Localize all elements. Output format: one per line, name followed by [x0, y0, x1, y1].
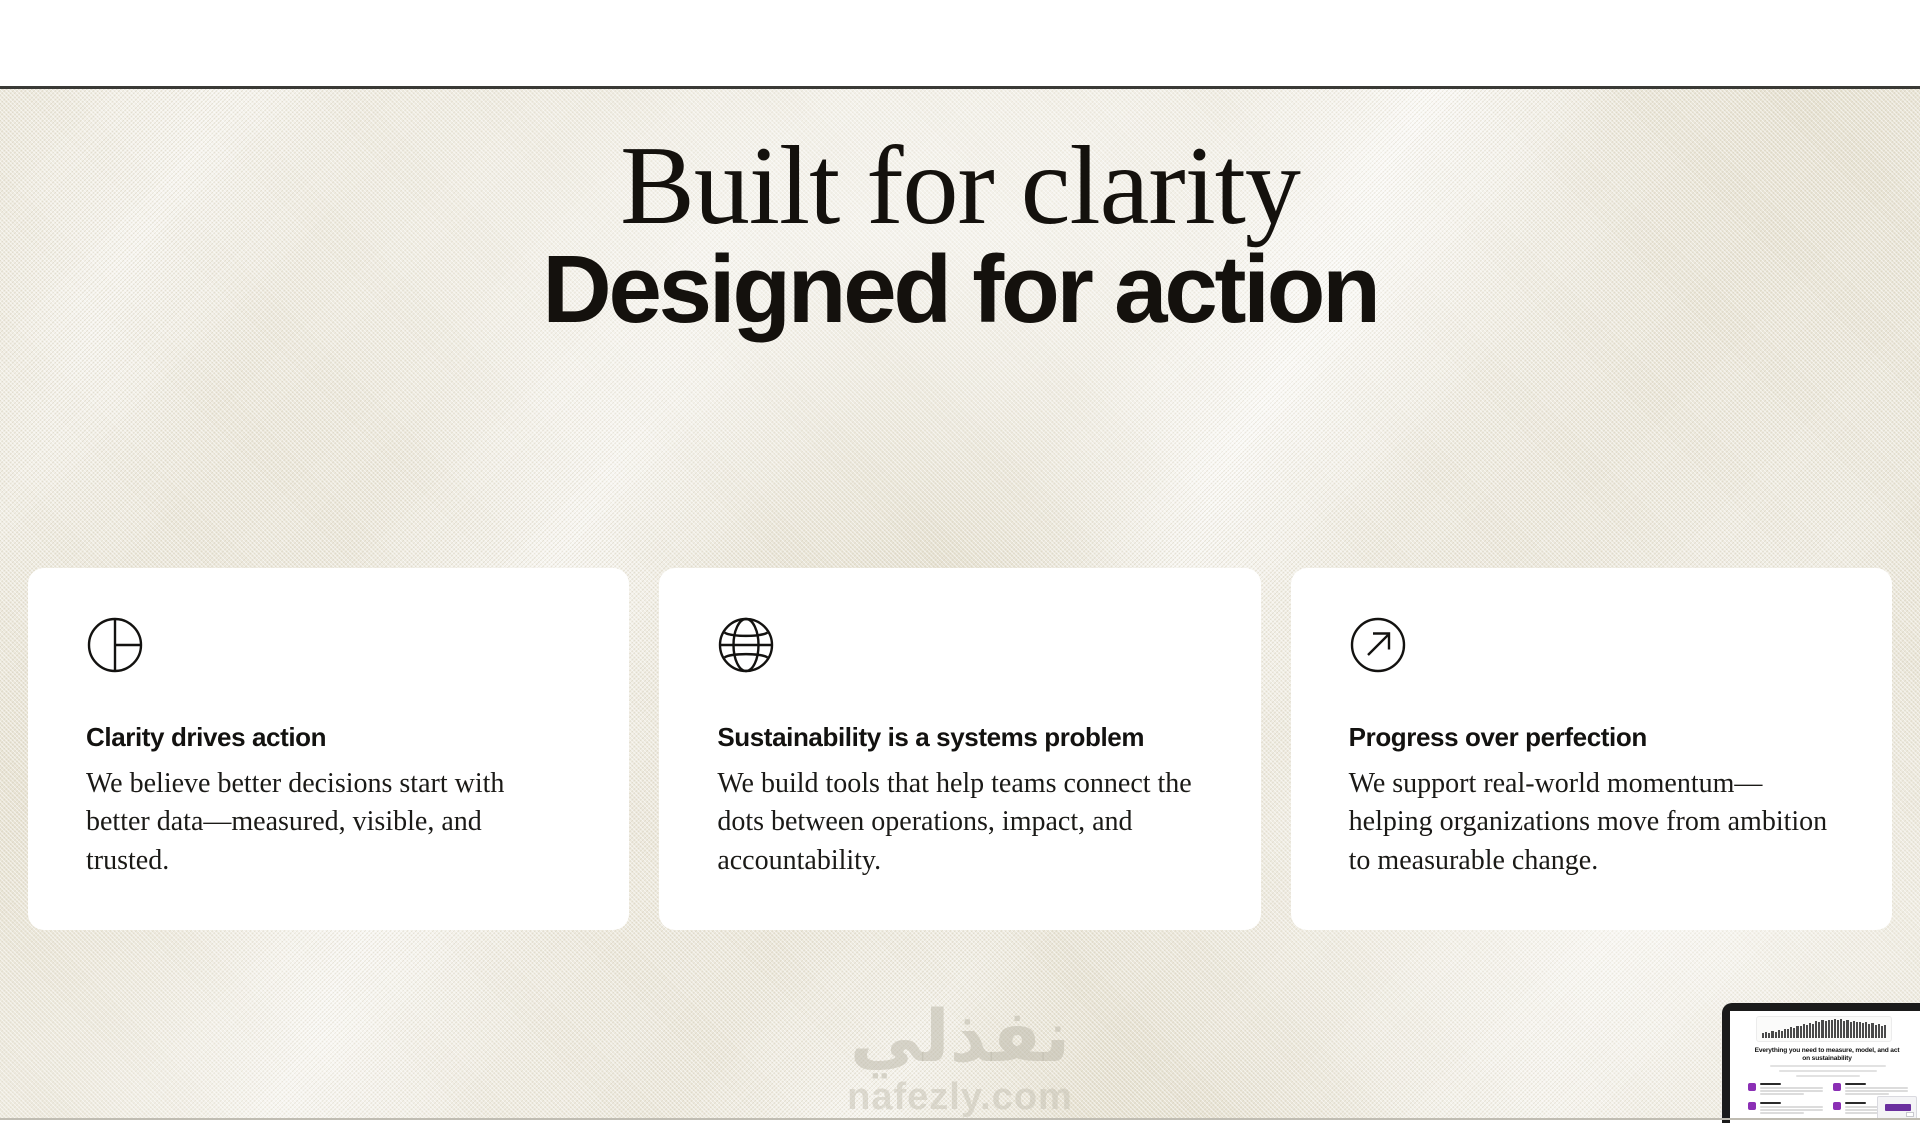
feature-card-clarity[interactable]: Clarity drives action We believe better …: [28, 568, 629, 930]
preview-item-text: [1760, 1102, 1823, 1115]
preview-grid-item: [1748, 1083, 1823, 1096]
page-preview-thumbnail[interactable]: Everything you need to measure, model, a…: [1722, 1003, 1920, 1123]
feature-card-title: Clarity drives action: [86, 722, 571, 753]
feature-card-body: We support real-world momentum—helping o…: [1349, 765, 1834, 880]
page-title: Built for clarity Designed for action: [0, 128, 1920, 342]
preview-bar-chart: [1762, 1018, 1886, 1038]
preview-page-canvas: Everything you need to measure, model, a…: [1730, 1011, 1920, 1123]
arrow-up-right-circle-icon: [1349, 616, 1407, 674]
preview-heading: Everything you need to measure, model, a…: [1752, 1047, 1902, 1064]
preview-chip-icon: [1748, 1083, 1756, 1091]
preview-inner-thumbnail-corner: [1906, 1112, 1914, 1117]
pie-quadrant-icon: [86, 616, 144, 674]
preview-grid-item: [1833, 1083, 1908, 1096]
preview-subtext-placeholder: [1770, 1065, 1886, 1080]
preview-chart-card: [1756, 1016, 1892, 1042]
preview-inner-thumbnail-bar: [1885, 1104, 1911, 1111]
preview-item-text: [1760, 1083, 1823, 1096]
browser-top-strip: [0, 0, 1920, 88]
feature-card-sustainability[interactable]: Sustainability is a systems problem We b…: [659, 568, 1260, 930]
feature-card-progress[interactable]: Progress over perfection We support real…: [1291, 568, 1892, 930]
bottom-divider-rule: [0, 1118, 1920, 1120]
headline-line-serif: Built for clarity: [0, 128, 1920, 244]
preview-chip-icon: [1833, 1102, 1841, 1110]
feature-card-body: We build tools that help teams connect t…: [717, 765, 1202, 880]
preview-inner-thumbnail: [1877, 1096, 1917, 1120]
page-root: Built for clarity Designed for action نف…: [0, 0, 1920, 1123]
feature-card-list: Clarity drives action We believe better …: [28, 568, 1892, 930]
globe-icon: [717, 616, 775, 674]
feature-card-title: Sustainability is a systems problem: [717, 722, 1202, 753]
preview-chip-icon: [1833, 1083, 1841, 1091]
preview-grid-item: [1748, 1102, 1823, 1115]
headline-line-sans: Designed for action: [0, 238, 1920, 342]
preview-chip-icon: [1748, 1102, 1756, 1110]
feature-card-title: Progress over perfection: [1349, 722, 1834, 753]
preview-item-text: [1845, 1083, 1908, 1096]
feature-card-body: We believe better decisions start with b…: [86, 765, 571, 880]
